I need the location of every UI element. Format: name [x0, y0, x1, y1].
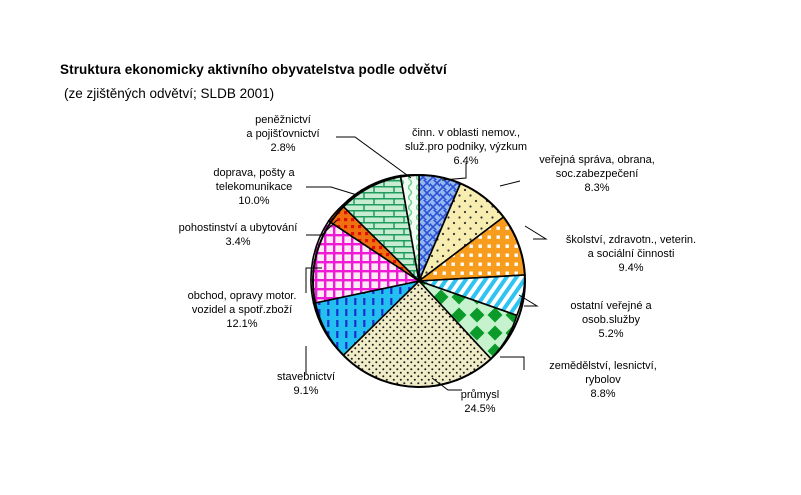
slice-penezictvi[interactable]	[400, 175, 419, 281]
pie-outline	[313, 175, 525, 387]
pie-slices	[311, 175, 525, 387]
label-pohostinstvi-value: 3.4%	[156, 235, 320, 249]
slice-ostatni-sluzby[interactable]	[419, 275, 525, 315]
label-obchod: obchod, opravy motor. vozidel a spotř.zb…	[166, 289, 318, 331]
label-doprava-line1: doprava, pošty a	[186, 166, 322, 180]
label-penezictvi-line1: peněžnictví	[228, 113, 338, 127]
label-ostatni-sluzby-line2: osob.služby	[541, 313, 681, 327]
label-skolstvi-line1: školství, zdravotn., veterin.	[541, 233, 721, 247]
label-skolstvi: školství, zdravotn., veterin. a sociální…	[541, 233, 721, 275]
label-obchod-line1: obchod, opravy motor.	[166, 289, 318, 303]
label-skolstvi-line2: a sociální činnosti	[541, 247, 721, 261]
label-penezictvi: peněžnictví a pojišťovnictví 2.8%	[228, 113, 338, 155]
label-cinn-nemov-line2: služ.pro podniky, výzkum	[378, 140, 554, 154]
slice-obchod[interactable]	[311, 221, 419, 303]
label-zemedelstvi: zemědělství, lesnictví, rybolov 8.8%	[527, 359, 679, 401]
label-prumysl-value: 24.5%	[437, 402, 523, 416]
label-verejna-sprava-line1: veřejná správa, obrana,	[513, 153, 681, 167]
slice-pohostinstvi[interactable]	[329, 206, 419, 281]
slice-doprava[interactable]	[342, 176, 419, 281]
label-verejna-sprava: veřejná správa, obrana, soc.zabezpečení …	[513, 153, 681, 195]
label-ostatni-sluzby: ostatní veřejné a osob.služby 5.2%	[541, 299, 681, 341]
slice-cinn-nemov[interactable]	[419, 175, 460, 281]
leader-ostatni-sluzby	[519, 295, 537, 306]
label-doprava: doprava, pošty a telekomunikace 10.0%	[186, 166, 322, 208]
slice-zemedelstvi[interactable]	[419, 281, 517, 359]
slice-stavebnictvi[interactable]	[314, 281, 419, 355]
page-title: Struktura ekonomicky aktivního obyvatels…	[60, 62, 447, 77]
label-pohostinstvi: pohostinství a ubytování 3.4%	[156, 221, 320, 249]
page-subtitle: (ze zjištěných odvětví; SLDB 2001)	[64, 86, 274, 101]
label-prumysl-line1: průmysl	[437, 388, 523, 402]
label-doprava-line2: telekomunikace	[186, 180, 322, 194]
label-stavebnictvi-line1: stavebnictví	[238, 370, 374, 384]
leader-lines	[306, 137, 546, 390]
label-ostatni-sluzby-line1: ostatní veřejné a	[541, 299, 681, 313]
leader-zemedelstvi	[500, 357, 524, 370]
label-zemedelstvi-line1: zemědělství, lesnictví,	[527, 359, 679, 373]
label-penezictvi-line2: a pojišťovnictví	[228, 127, 338, 141]
label-doprava-value: 10.0%	[186, 194, 322, 208]
label-zemedelstvi-line2: rybolov	[527, 373, 679, 387]
slice-verejna-sprava[interactable]	[419, 183, 504, 281]
slice-skolstvi[interactable]	[419, 217, 525, 281]
label-pohostinstvi-line1: pohostinství a ubytování	[156, 221, 320, 235]
label-verejna-sprava-value: 8.3%	[513, 181, 681, 195]
label-zemedelstvi-value: 8.8%	[527, 387, 679, 401]
label-obchod-line2: vozidel a spotř.zboží	[166, 303, 318, 317]
label-stavebnictvi-value: 9.1%	[238, 384, 374, 398]
label-skolstvi-value: 9.4%	[541, 261, 721, 275]
label-prumysl: průmysl 24.5%	[437, 388, 523, 416]
label-verejna-sprava-line2: soc.zabezpečení	[513, 167, 681, 181]
label-penezictvi-value: 2.8%	[228, 141, 338, 155]
label-stavebnictvi: stavebnictví 9.1%	[238, 370, 374, 398]
label-cinn-nemov-line1: činn. v oblasti nemov.,	[378, 126, 554, 140]
chart-root: Struktura ekonomicky aktivního obyvatels…	[0, 0, 801, 495]
label-obchod-value: 12.1%	[166, 317, 318, 331]
label-ostatni-sluzby-value: 5.2%	[541, 327, 681, 341]
